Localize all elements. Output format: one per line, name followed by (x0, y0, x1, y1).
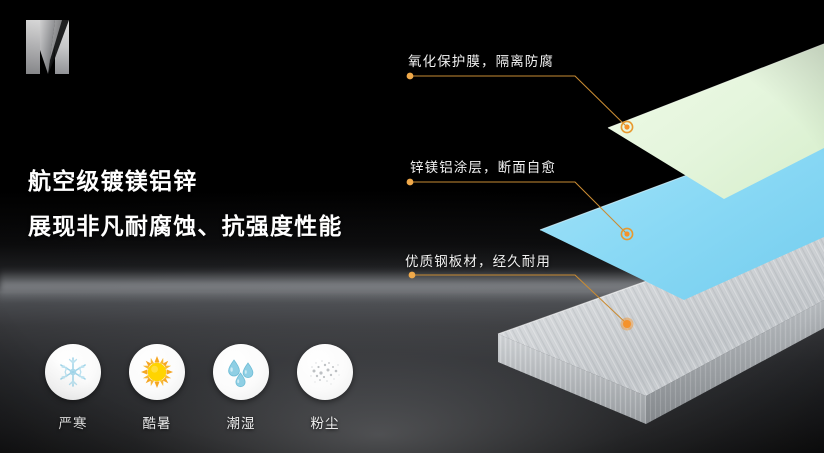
promo-banner: 航空级镀镁铝锌 展现非凡耐腐蚀、抗强度性能 (0, 0, 824, 453)
sun-icon (139, 354, 175, 390)
feature-humidity-label: 潮湿 (227, 412, 256, 432)
feature-dust-circle (297, 344, 353, 400)
callout-label-oxide-film: 氧化保护膜，隔离防腐 (408, 50, 554, 70)
callout-label-steel-plate: 优质钢板材，经久耐用 (405, 250, 551, 270)
headline-line-1: 航空级镀镁铝锌 (28, 170, 448, 193)
metallic-m-logo (22, 16, 88, 78)
feature-humidity-circle (213, 344, 269, 400)
feature-cold-label: 严寒 (59, 412, 88, 432)
feature-icon-row: 严寒 (44, 344, 354, 432)
headline-line-2: 展现非凡耐腐蚀、抗强度性能 (28, 215, 448, 238)
feature-heat: 酷暑 (128, 344, 186, 432)
feature-heat-label: 酷暑 (143, 412, 172, 432)
feature-cold: 严寒 (44, 344, 102, 432)
headline-block: 航空级镀镁铝锌 展现非凡耐腐蚀、抗强度性能 (28, 170, 448, 238)
feature-cold-circle (45, 344, 101, 400)
feature-dust: 粉尘 (296, 344, 354, 432)
water-drop-icon (223, 354, 259, 390)
feature-heat-circle (129, 344, 185, 400)
feature-humidity: 潮湿 (212, 344, 270, 432)
dust-particles-icon (306, 354, 344, 390)
callout-label-zinc-coating: 锌镁铝涂层，断面自愈 (410, 156, 556, 176)
snowflake-icon (55, 354, 91, 390)
feature-dust-label: 粉尘 (311, 412, 340, 432)
